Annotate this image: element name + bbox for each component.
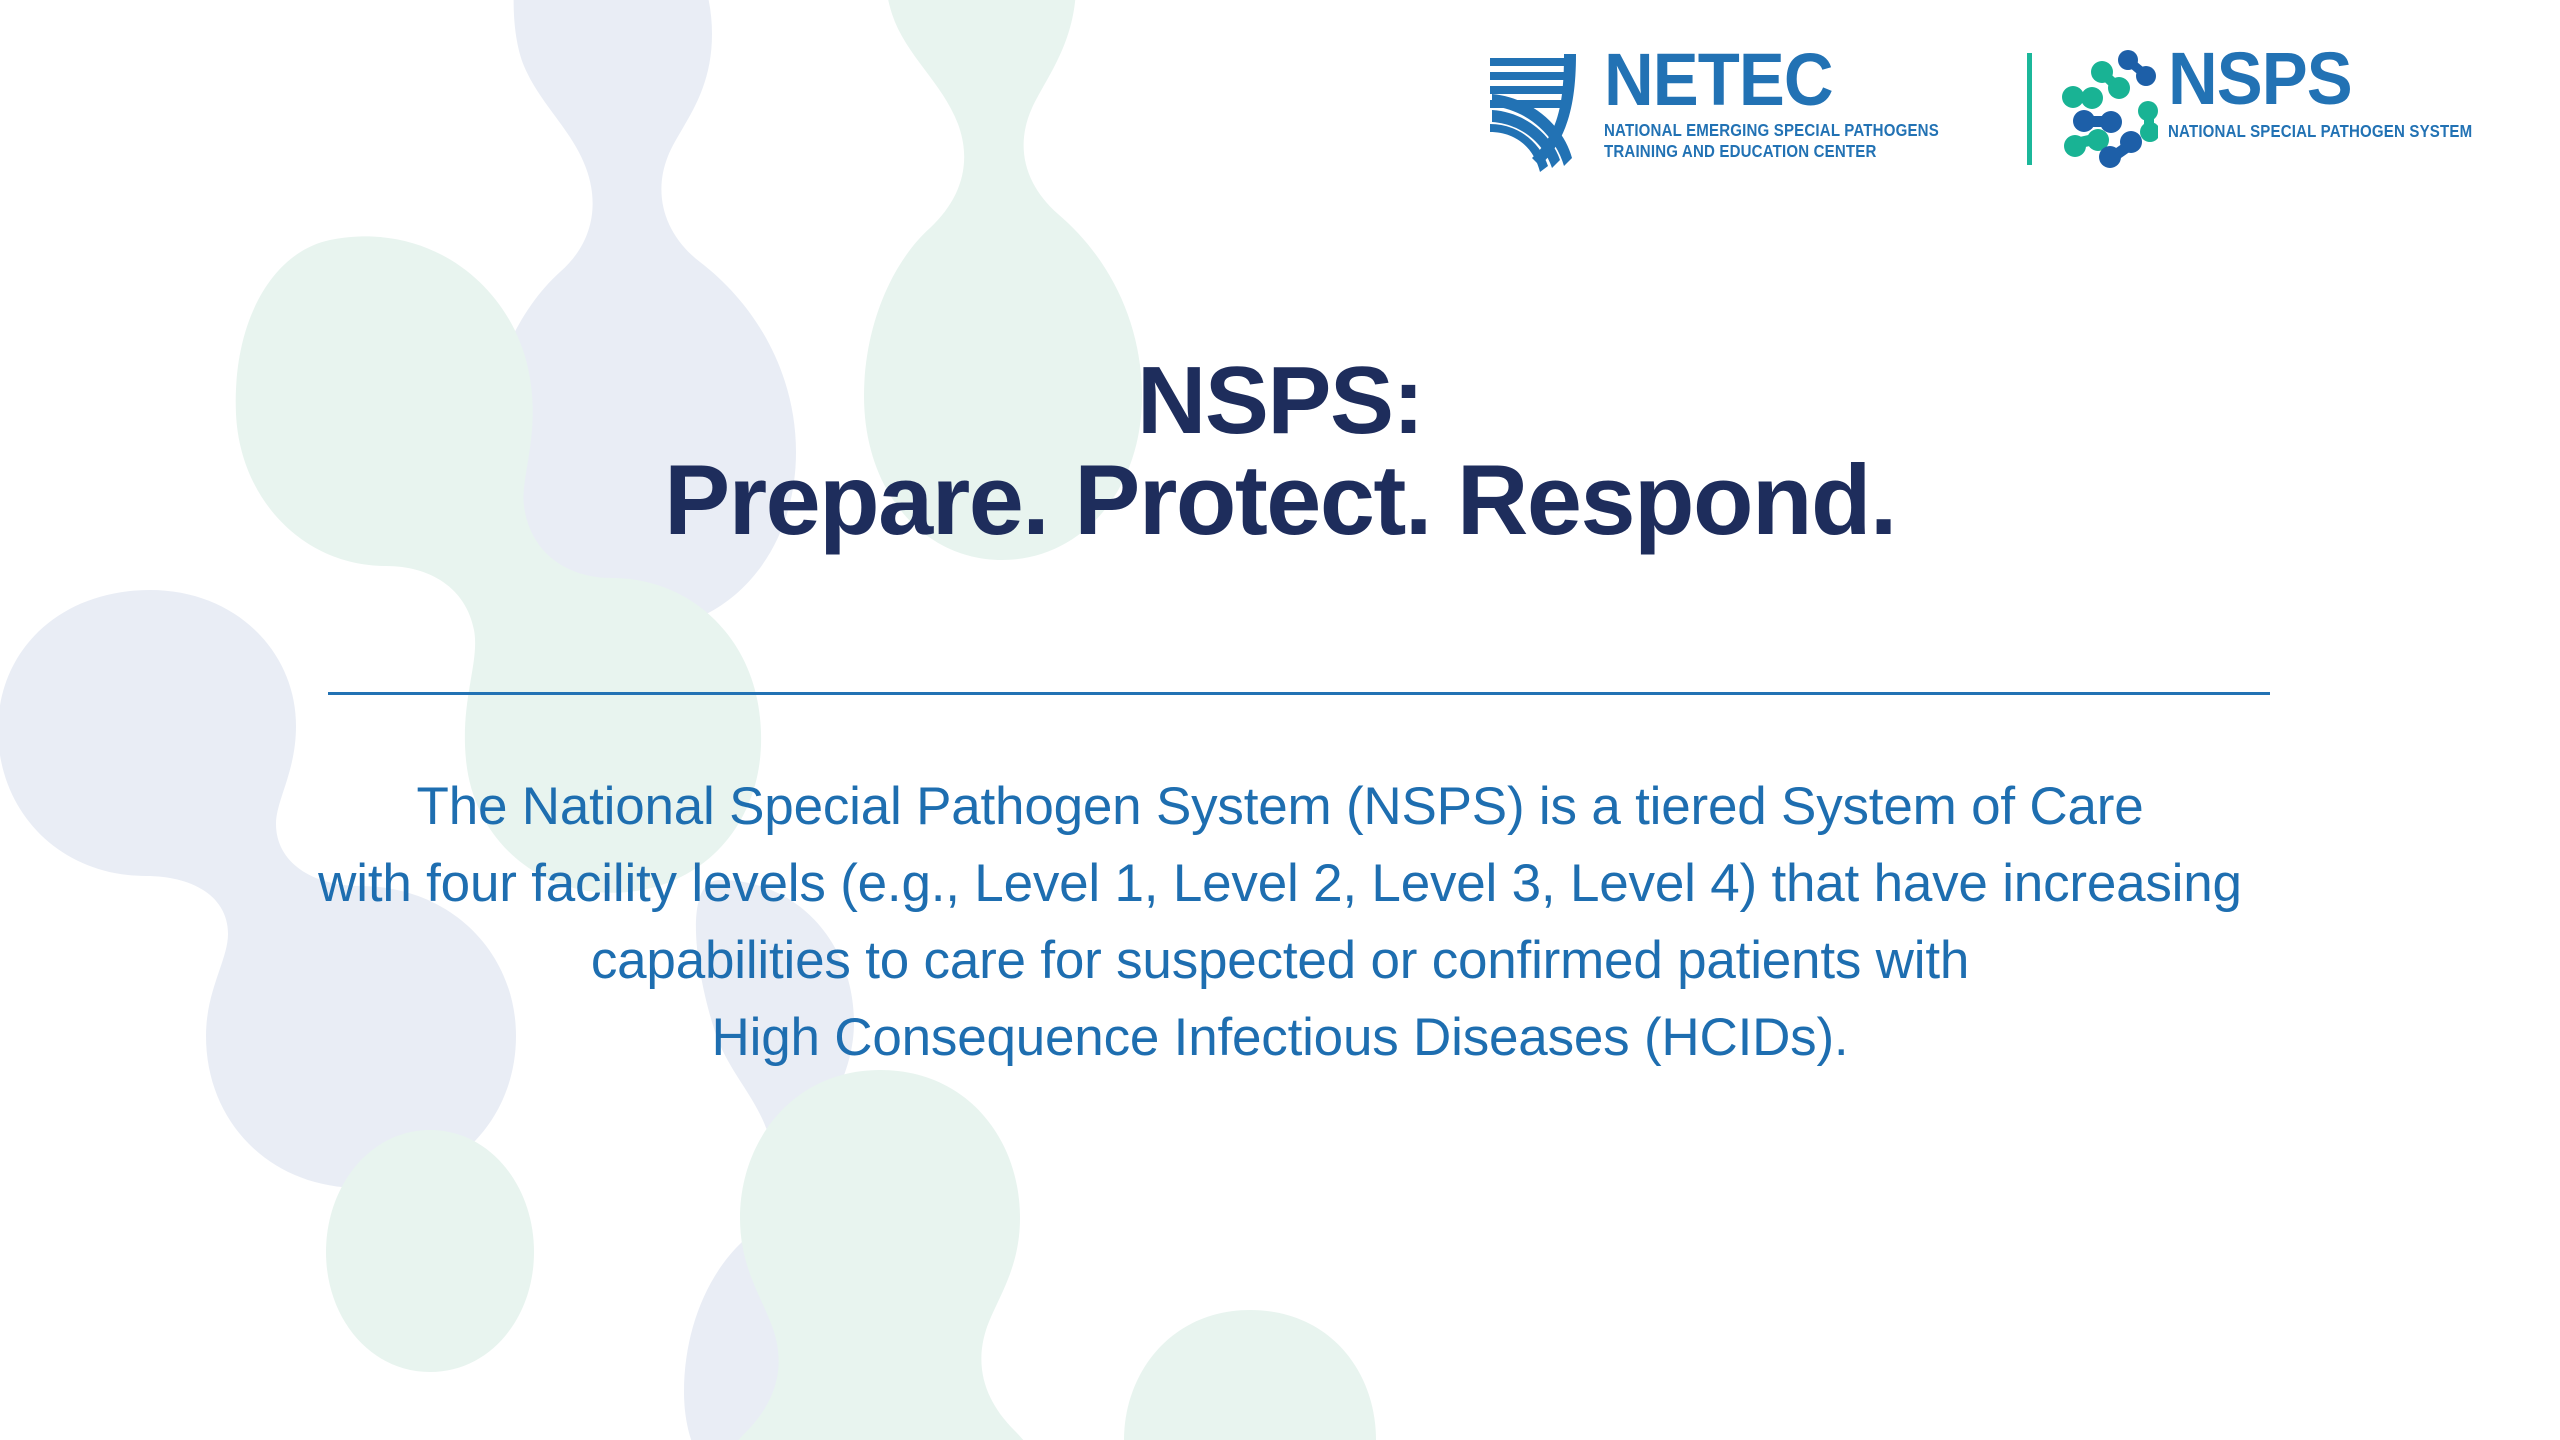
netec-tagline-line-1: NATIONAL EMERGING SPECIAL PATHOGENS [1604,120,1939,141]
nsps-tagline: NATIONAL SPECIAL PATHOGEN SYSTEM [2168,121,2472,142]
decor-shape-mint-bottomcenter [688,1070,1072,1440]
netec-tagline-line-2: TRAINING AND EDUCATION CENTER [1604,141,1939,162]
nsps-text-group: NSPS NATIONAL SPECIAL PATHOGEN SYSTEM [2168,45,2522,142]
body-line-4: High Consequence Infectious Diseases (HC… [0,999,2560,1076]
nsps-molecule-dots-icon [2062,49,2158,173]
title-line-1: NSPS: [0,352,2560,450]
decor-shape-mint-bottomright [1124,1310,1376,1440]
logo-bar: NETEC NATIONAL EMERGING SPECIAL PATHOGEN… [1490,44,2522,174]
nsps-logo: NSPS NATIONAL SPECIAL PATHOGEN SYSTEM [2032,45,2522,173]
decor-shape-mint-smallleft [326,1130,534,1372]
netec-shield-icon [1490,48,1590,172]
body-line-1: The National Special Pathogen System (NS… [0,768,2560,845]
nsps-wordmark: NSPS [2168,45,2497,113]
page-title: NSPS: Prepare. Protect. Respond. [0,352,2560,551]
horizontal-divider [328,692,2270,695]
netec-tagline: NATIONAL EMERGING SPECIAL PATHOGENS TRAI… [1604,120,1993,163]
slide-canvas: NETEC NATIONAL EMERGING SPECIAL PATHOGEN… [0,0,2560,1440]
body-line-2: with four facility levels (e.g., Level 1… [0,845,2560,922]
netec-text-group: NETEC NATIONAL EMERGING SPECIAL PATHOGEN… [1604,46,1993,163]
netec-wordmark: NETEC [1604,46,1966,114]
title-line-2: Prepare. Protect. Respond. [0,450,2560,551]
netec-logo: NETEC NATIONAL EMERGING SPECIAL PATHOGEN… [1490,46,2027,172]
body-line-3: capabilities to care for suspected or co… [0,922,2560,999]
body-paragraph: The National Special Pathogen System (NS… [0,768,2560,1076]
background-decoration [0,0,2560,1440]
